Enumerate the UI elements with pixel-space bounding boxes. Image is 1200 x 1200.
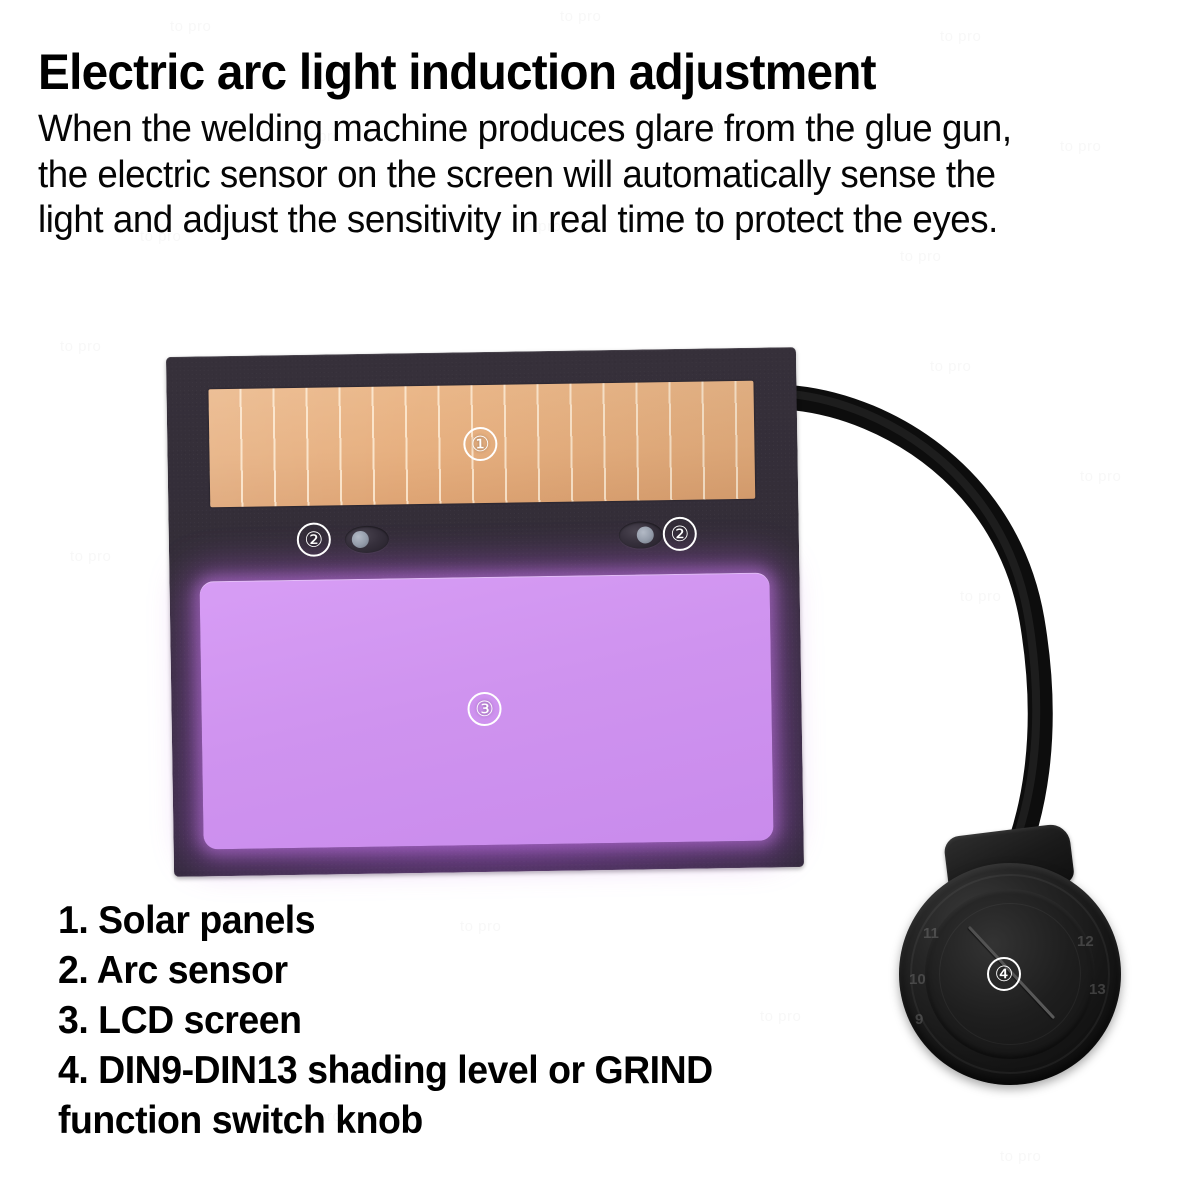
arc-sensor-left — [345, 526, 389, 554]
page-title: Electric arc light induction adjustment — [38, 46, 1117, 98]
watermark-text: to pro — [170, 18, 211, 35]
callout-badge-4: ④ — [987, 957, 1021, 991]
legend-item-4: 4. DIN9-DIN13 shading level or GRIND — [58, 1046, 922, 1096]
knob-marking: 12 — [1077, 933, 1094, 950]
legend-item-1: 1. Solar panels — [58, 896, 922, 946]
legend-list: 1. Solar panels 2. Arc sensor 3. LCD scr… — [58, 896, 958, 1146]
callout-badge-2-left: ② — [297, 522, 332, 557]
watermark-text: to pro — [900, 248, 941, 265]
arc-sensor-right — [619, 521, 663, 549]
arc-sensor-lens — [637, 526, 654, 543]
watermark-text: to pro — [560, 8, 601, 25]
description-line: When the welding machine produces glare … — [38, 107, 1128, 153]
watermark-text: to pro — [940, 28, 981, 45]
heading-block: Electric arc light induction adjustment … — [38, 46, 1168, 244]
callout-badge-2-right: ② — [663, 517, 698, 552]
infographic-page: to pro to pro to pro to pro to pro to pr… — [0, 0, 1200, 1200]
legend-item-4-continued: function switch knob — [58, 1096, 922, 1146]
legend-item-2: 2. Arc sensor — [58, 946, 922, 996]
knob-marking: 13 — [1089, 981, 1106, 998]
lens-cartridge: ① ② ② ③ — [166, 347, 804, 877]
description-line: light and adjust the sensitivity in real… — [38, 198, 1128, 244]
description-line: the electric sensor on the screen will a… — [38, 153, 1128, 199]
arc-sensor-lens — [352, 531, 369, 548]
description-paragraph: When the welding machine produces glare … — [38, 107, 1128, 244]
legend-item-3: 3. LCD screen — [58, 996, 922, 1046]
watermark-text: to pro — [1000, 1148, 1041, 1165]
